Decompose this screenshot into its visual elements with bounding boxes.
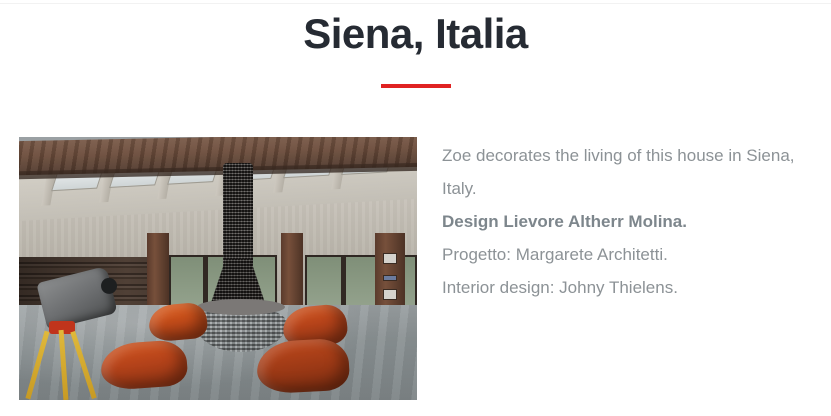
- description-line-interior-design: Interior design: Johny Thielens.: [442, 271, 812, 304]
- description-line: Italy.: [442, 172, 812, 205]
- description-line: Zoe decorates the living of this house i…: [442, 139, 812, 172]
- page-title: Siena, Italia: [0, 8, 831, 60]
- photo-scene: [19, 137, 417, 400]
- description-line-designer: Design Lievore Altherr Molina.: [442, 205, 812, 238]
- chainmail-pendant-hood: [207, 163, 269, 313]
- title-red-divider: [381, 84, 451, 88]
- content-row: Zoe decorates the living of this house i…: [19, 137, 812, 400]
- title-block: Siena, Italia: [0, 8, 831, 88]
- description-text-block: Zoe decorates the living of this house i…: [417, 137, 812, 304]
- description-line-progetto: Progetto: Margarete Architetti.: [442, 238, 812, 271]
- page-root: Siena, Italia: [0, 0, 831, 416]
- top-hairline-divider: [0, 3, 831, 4]
- interior-photo: [19, 137, 417, 400]
